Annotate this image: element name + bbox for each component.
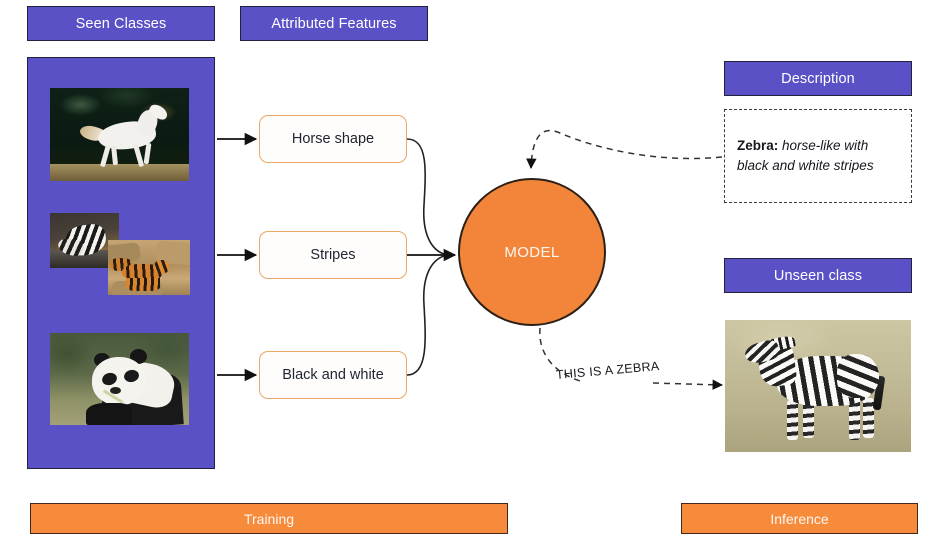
feature-label: Stripes [310,247,355,263]
feature-box-horse-shape: Horse shape [259,115,407,163]
description-box: Zebra: horse-like with black and white s… [724,109,912,203]
description-header: Description [724,61,912,96]
model-label: MODEL [504,244,559,261]
dashed-arrow-description-to-model [531,130,722,168]
curve-black-and-white-to-model [407,256,444,375]
feature-box-black-and-white: Black and white [259,351,407,399]
model-node: MODEL [458,178,606,326]
feature-box-stripes: Stripes [259,231,407,279]
inference-label: Inference [770,511,828,527]
description-header-label: Description [781,71,855,87]
zebra-photo [725,320,911,452]
feature-label: Black and white [282,367,384,383]
prediction-caption: THIS IS A ZEBRA [555,359,660,382]
seen-classes-header-label: Seen Classes [76,16,167,32]
diagram-canvas: Seen Classes Attributed Features Descrip… [0,0,948,560]
description-term: Zebra: [737,138,778,153]
panda-photo [50,333,189,425]
dashed-arrow-prediction-to-zebra [653,383,722,385]
unseen-class-header-label: Unseen class [774,268,862,284]
attributed-features-header: Attributed Features [240,6,428,41]
description-text: Zebra: horse-like with black and white s… [737,136,899,175]
feature-label: Horse shape [292,131,374,147]
inference-stage-banner: Inference [681,503,918,534]
training-stage-banner: Training [30,503,508,534]
training-label: Training [244,511,294,527]
seen-classes-header: Seen Classes [27,6,215,41]
horse-photo [50,88,189,181]
tiger-photo [108,240,190,295]
attributed-features-header-label: Attributed Features [271,16,396,32]
curve-horse-shape-to-model [407,139,444,254]
unseen-class-header: Unseen class [724,258,912,293]
